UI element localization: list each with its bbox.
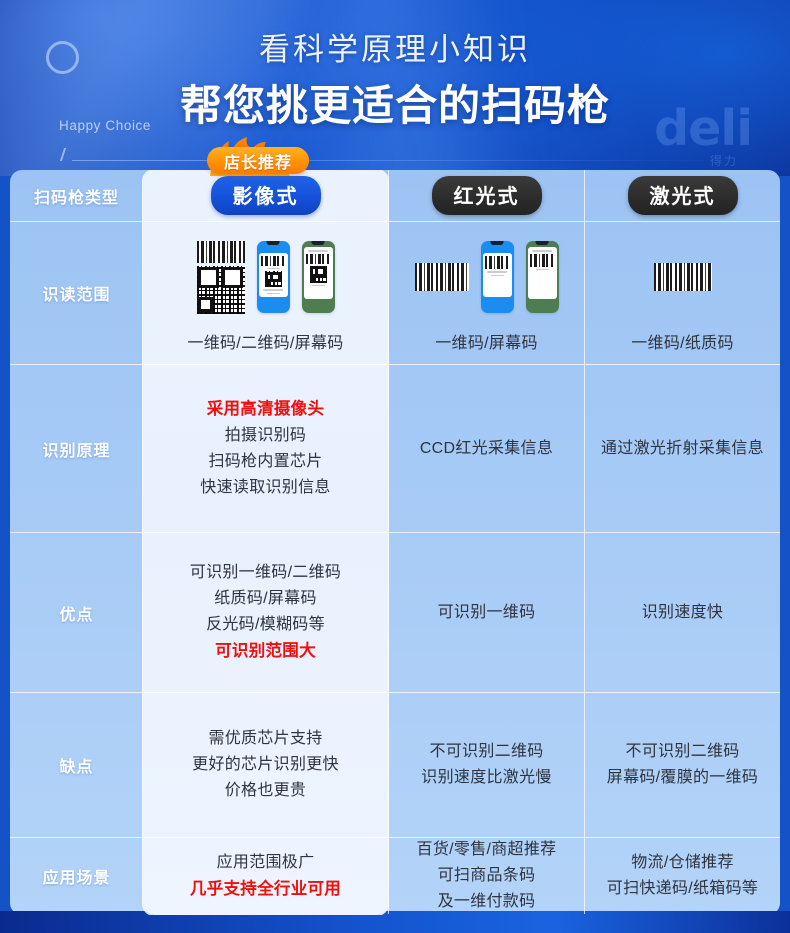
phone-screen [259,253,288,297]
barcode-icon [197,241,245,263]
barcode-icon [654,263,712,291]
text-line: 物流/仓储推荐 [631,850,734,876]
text-line: 更好的芯片识别更快 [192,752,339,778]
text-line: 采用高清摄像头 [207,396,325,423]
column-badge-red-light: 红光式 [432,176,542,215]
table-row-scenarios: 应用场景 应用范围极广 几乎支持全行业可用 百货/零售/商超推荐 可扫商品条码 … [10,838,780,914]
decorative-hairline [72,160,732,161]
cell-principle-laser: 通过激光折射采集信息 [584,365,780,532]
table-row-advantages: 优点 可识别一维码/二维码 纸质码/屏幕码 反光码/模糊码等 可识别范围大 可识… [10,533,780,693]
row-label-disadvantages: 缺点 [59,753,93,777]
row-label-cell-principle: 识别原理 [10,365,143,532]
column-header-red-light[interactable]: 红光式 [388,170,584,221]
cell-principle-red-light: CCD红光采集信息 [388,365,584,532]
row-label-principle: 识别原理 [42,437,110,461]
column-header-laser[interactable]: 激光式 [584,170,780,221]
screen-text-line [312,285,325,287]
comparison-table: 扫码枪类型 影像式 红光式 激光式 识读范围 [10,170,780,915]
banner-title: 帮您挑更适合的扫码枪 [0,72,790,133]
phone-screen [304,247,333,299]
bottom-accent-strip [0,911,790,933]
screen-text-line [536,269,549,271]
screen-text-line [267,293,280,294]
row-label-cell-scenarios: 应用场景 [10,838,143,914]
text-line: 可扫商品条码 [438,863,536,889]
phone-notch [536,241,549,245]
code-graphics-imaging [197,233,335,321]
cell-disadvantages-imaging: 需优质芯片支持 更好的芯片识别更快 价格也更贵 [143,693,388,837]
text-line: 扫码枪内置芯片 [208,449,322,475]
column-badge-imaging: 影像式 [211,176,321,215]
header-row-label-cell: 扫码枪类型 [10,170,143,221]
text-line: 应用范围极广 [217,850,315,876]
recommend-badge-pill: 店长推荐 [207,147,309,174]
screen-text-line [532,250,552,252]
cell-disadvantages-laser: 不可识别二维码 屏幕码/覆膜的一维码 [584,693,780,837]
text-line: CCD红光采集信息 [420,436,553,462]
screen-text-line [263,289,283,290]
caption-scan-range-laser: 一维码/纸质码 [631,329,734,353]
phone-notch [491,241,504,245]
qrcode-icon [310,266,327,283]
cell-principle-imaging: 采用高清摄像头 拍摄识别码 扫码枪内置芯片 快速读取识别信息 [143,365,388,532]
banner-subtitle: 看科学原理小知识 [0,24,790,69]
cell-advantages-laser: 识别速度快 [584,533,780,692]
cell-scenarios-red-light: 百货/零售/商超推荐 可扫商品条码 及一维付款码 [388,838,584,914]
phone-alipay-icon [481,241,514,313]
screen-text-line [267,268,280,269]
phone-screen [483,253,512,297]
table-row-disadvantages: 缺点 需优质芯片支持 更好的芯片识别更快 价格也更贵 不可识别二维码 识别速度比… [10,693,780,838]
table-header-row: 扫码枪类型 影像式 红光式 激光式 [10,170,780,222]
barcode-icon [306,254,330,264]
row-label-cell-advantages: 优点 [10,533,143,692]
text-line: 几乎支持全行业可用 [190,876,341,903]
text-line: 及一维付款码 [438,889,536,915]
text-line: 可识别一维码 [438,600,536,626]
caption-scan-range-imaging: 一维码/二维码/屏幕码 [187,329,343,353]
barcode-icon [261,256,285,266]
text-line: 不可识别二维码 [625,739,739,765]
text-line: 可识别范围大 [215,638,316,665]
text-line: 可识别一维码/二维码 [190,560,341,586]
phone-notch [312,241,325,245]
row-label-cell-disadvantages: 缺点 [10,693,143,837]
row-label-cell-scan-range: 识读范围 [10,222,143,364]
text-line: 拍摄识别码 [225,423,307,449]
screen-text-line [491,275,504,277]
caption-scan-range-red-light: 一维码/屏幕码 [435,329,538,353]
header-row-label: 扫码枪类型 [34,184,119,208]
text-line: 价格也更贵 [225,778,307,804]
text-line: 识别速度快 [642,600,724,626]
qrcode-icon [265,271,282,287]
cell-scan-range-imaging: 一维码/二维码/屏幕码 [143,222,388,364]
column-badge-laser: 激光式 [628,176,738,215]
barcode-icon [415,263,469,291]
recommend-badge: 店长推荐 [198,131,318,179]
text-line: 纸质码/屏幕码 [214,586,317,612]
row-label-scenarios: 应用场景 [42,864,110,888]
row-label-advantages: 优点 [59,601,93,625]
table-row-principle: 识别原理 采用高清摄像头 拍摄识别码 扫码枪内置芯片 快速读取识别信息 CCD红… [10,365,780,533]
code-graphics-laser [654,233,712,321]
brand-logo-sub: 得力 [710,152,738,169]
text-line: 通过激光折射采集信息 [601,436,764,462]
phone-alipay-icon [257,241,290,313]
code-graphics-red-light [415,233,559,321]
cell-scenarios-imaging: 应用范围极广 几乎支持全行业可用 [143,838,388,914]
recommend-badge-label: 店长推荐 [224,149,292,173]
cell-advantages-red-light: 可识别一维码 [388,533,584,692]
text-line: 快速读取识别信息 [200,475,330,501]
row-label-scan-range: 识读范围 [42,281,110,305]
barcode-icon [530,254,554,267]
cell-advantages-imaging: 可识别一维码/二维码 纸质码/屏幕码 反光码/模糊码等 可识别范围大 [143,533,388,692]
header-banner: Happy Choice deli 得力 看科学原理小知识 帮您挑更适合的扫码枪 [0,0,790,176]
phone-notch [267,241,280,245]
text-line: 反光码/模糊码等 [206,612,325,638]
cell-scenarios-laser: 物流/仓储推荐 可扫快递码/纸箱码等 [584,838,780,914]
cell-scan-range-red-light: 一维码/屏幕码 [388,222,584,364]
phone-wechat-icon [526,241,559,313]
phone-wechat-icon [302,241,335,313]
phone-screen [528,247,557,299]
qrcode-icon [197,266,245,314]
cell-scan-range-laser: 一维码/纸质码 [584,222,780,364]
paper-codes-group [197,241,245,314]
screen-text-line [487,271,507,273]
text-line: 百货/零售/商超推荐 [417,837,557,863]
screen-text-line [308,250,328,252]
text-line: 可扫快递码/纸箱码等 [607,876,758,902]
cell-disadvantages-red-light: 不可识别二维码 识别速度比激光慢 [388,693,584,837]
text-line: 识别速度比激光慢 [421,765,551,791]
table-row-scan-range: 识读范围 [10,222,780,365]
text-line: 不可识别二维码 [429,739,543,765]
barcode-icon [485,256,509,269]
text-line: 需优质芯片支持 [208,726,322,752]
text-line: 屏幕码/覆膜的一维码 [607,765,758,791]
